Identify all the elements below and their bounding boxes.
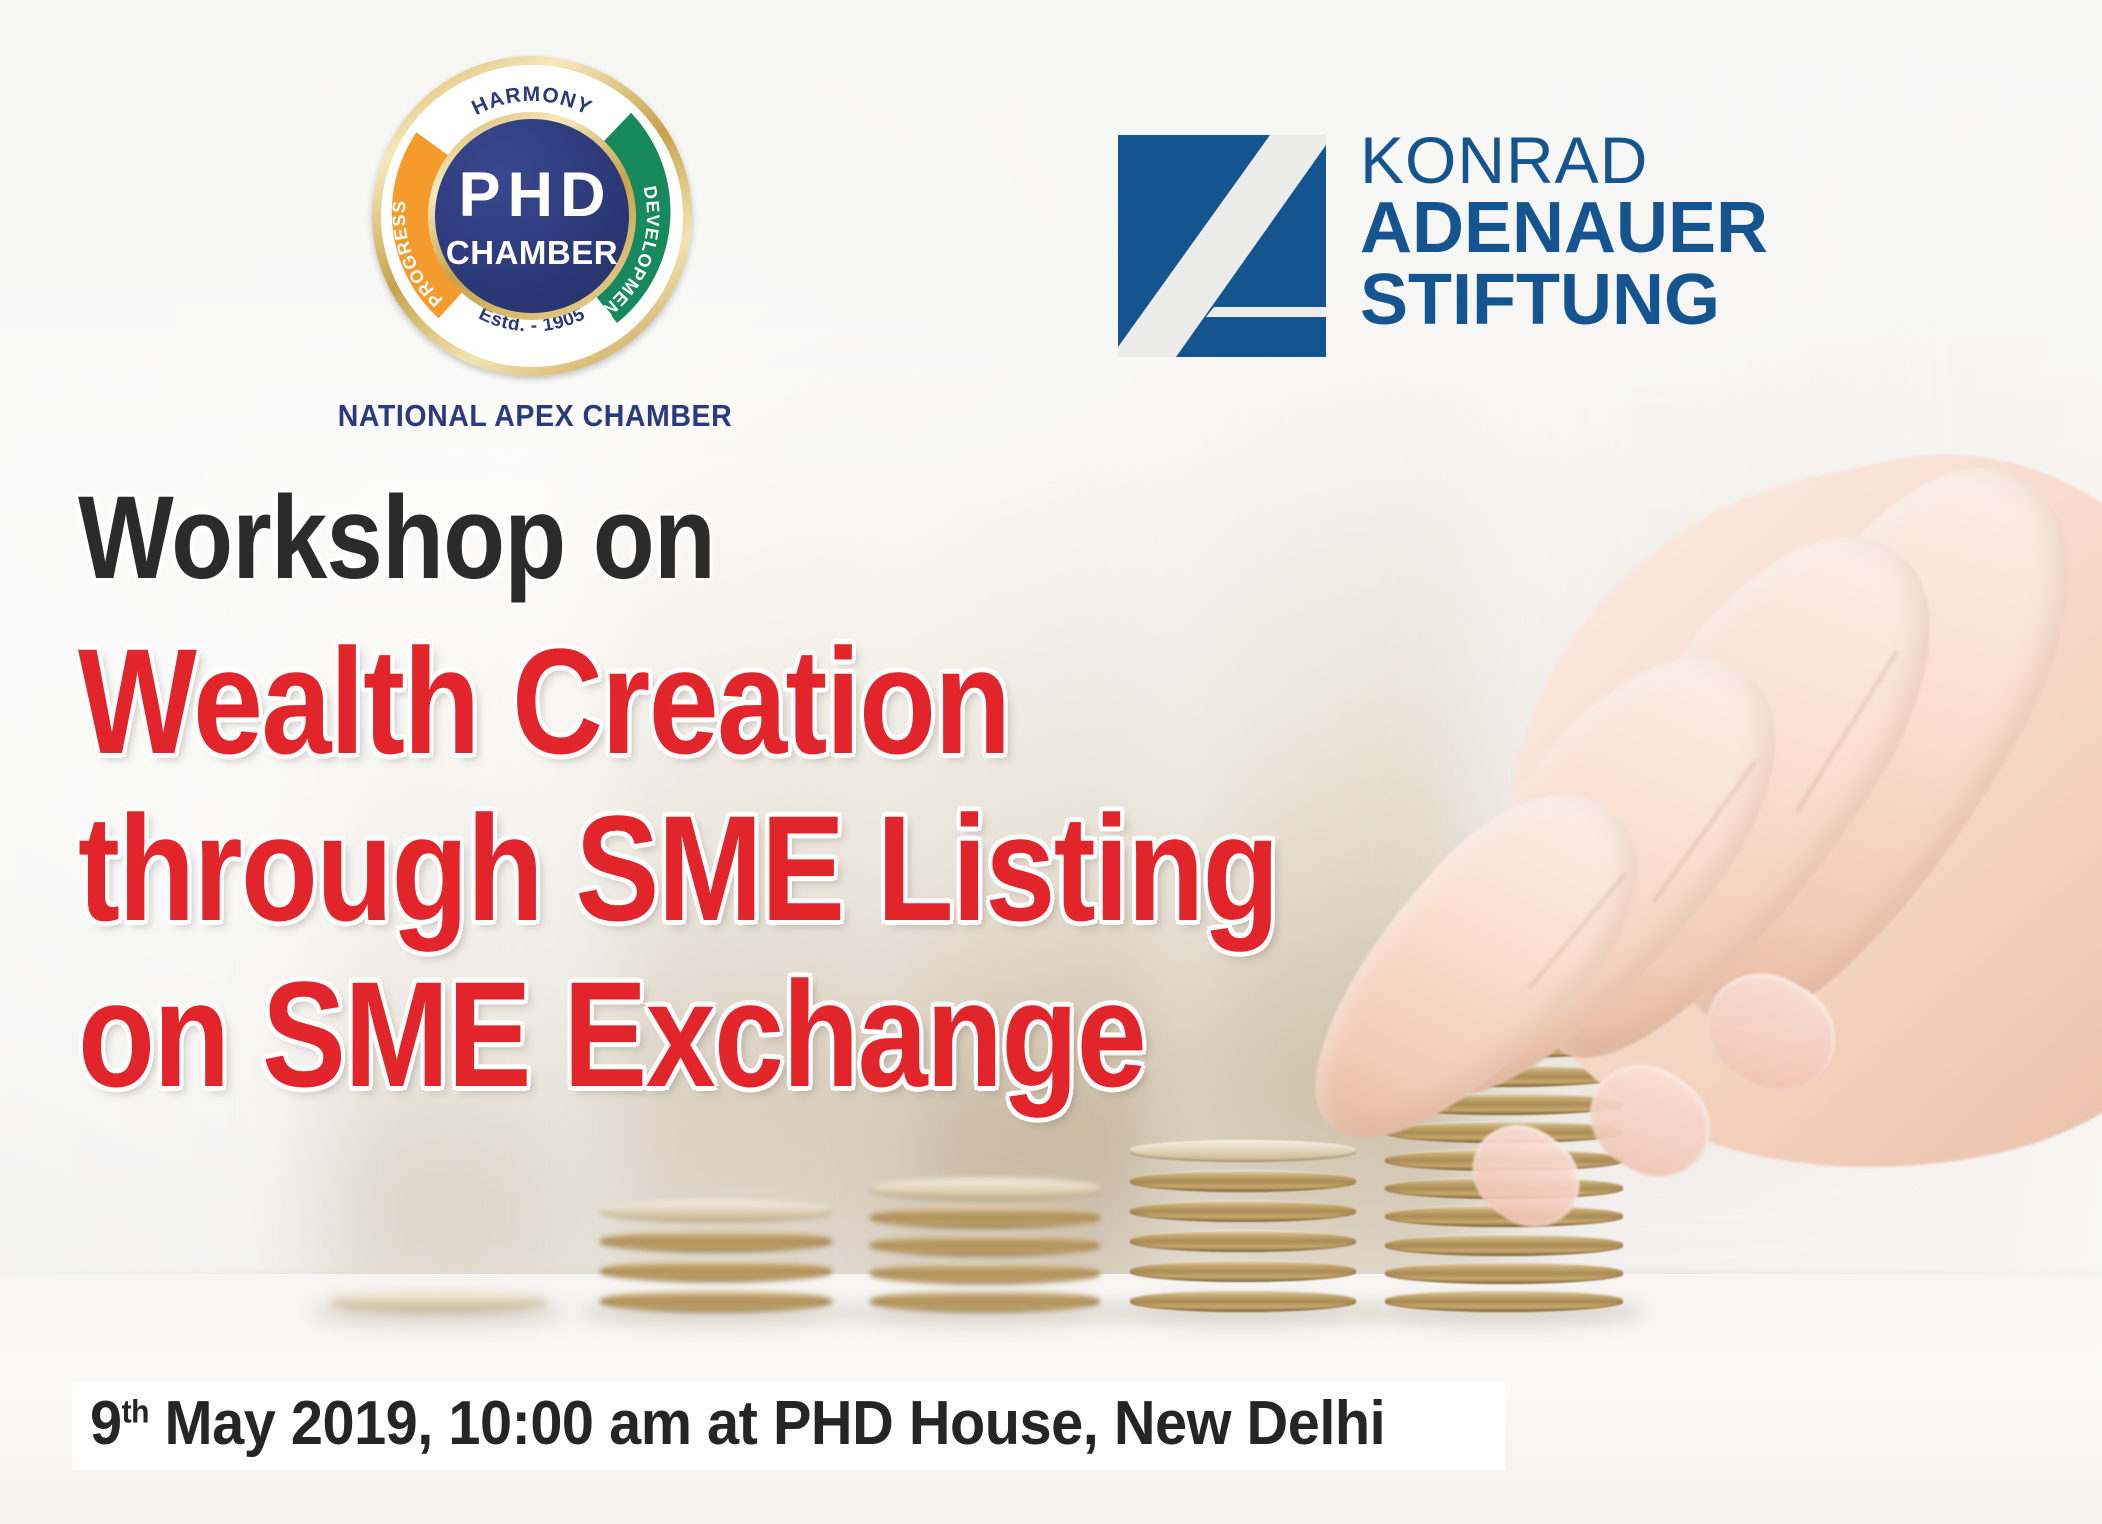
coin xyxy=(1385,1290,1623,1312)
coin xyxy=(600,1290,832,1312)
event-rest: May 2019, 10:00 am at PHD House, New Del… xyxy=(149,1389,1385,1458)
event-poster: HARMONY DEVELOPMENT PROGRESS Estd. - 190… xyxy=(0,0,2102,1524)
kas-wordmark: KONRAD ADENAUER STIFTUNG xyxy=(1360,129,1768,334)
coin xyxy=(1130,1260,1356,1282)
fingernail xyxy=(1454,1106,1599,1246)
phd-tagline: NATIONAL APEX CHAMBER xyxy=(319,398,751,434)
event-details-bar: 9th May 2019, 10:00 am at PHD House, New… xyxy=(72,1382,1505,1470)
event-details-text: 9th May 2019, 10:00 am at PHD House, New… xyxy=(90,1391,1385,1457)
phd-chamber-logo: HARMONY DEVELOPMENT PROGRESS Estd. - 190… xyxy=(372,56,692,376)
logo-center-disc: PHD CHAMBER xyxy=(435,119,629,313)
headline-kicker: Workshop on xyxy=(78,478,1420,598)
coin xyxy=(1130,1290,1356,1312)
coin xyxy=(870,1234,1100,1256)
coin xyxy=(870,1178,1100,1200)
coin xyxy=(1385,1262,1623,1284)
coin xyxy=(870,1290,1100,1312)
kas-line-konrad: KONRAD xyxy=(1360,129,1768,191)
coin xyxy=(600,1200,832,1222)
headline-title-line-1: Wealth Creation xyxy=(78,624,1388,779)
konrad-adenauer-stiftung-logo: KONRAD ADENAUER STIFTUNG xyxy=(1118,135,1818,365)
kas-line-adenauer: ADENAUER xyxy=(1360,195,1768,263)
event-day: 9 xyxy=(90,1389,122,1458)
coin-stack xyxy=(330,1278,546,1312)
coin xyxy=(870,1262,1100,1284)
coin-stack xyxy=(870,1180,1100,1312)
coin xyxy=(870,1206,1100,1228)
coin xyxy=(330,1290,546,1312)
logo-ring-band: HARMONY DEVELOPMENT PROGRESS Estd. - 190… xyxy=(381,65,683,367)
event-day-suffix: th xyxy=(122,1393,149,1429)
coin-stack xyxy=(600,1202,832,1312)
kas-line-stiftung: STIFTUNG xyxy=(1360,267,1768,335)
headline-title-line-3: on SME Exchange xyxy=(78,957,1388,1112)
logo-phd-text: PHD xyxy=(458,164,612,227)
headline-title-line-2: through SME Listing xyxy=(78,791,1388,946)
coin xyxy=(600,1260,832,1282)
logo-chamber-text: CHAMBER xyxy=(446,236,618,269)
headline-block: Workshop on Wealth Creation through SME … xyxy=(78,478,1638,1112)
coin xyxy=(600,1230,832,1252)
kas-square-a-mark xyxy=(1118,135,1326,357)
